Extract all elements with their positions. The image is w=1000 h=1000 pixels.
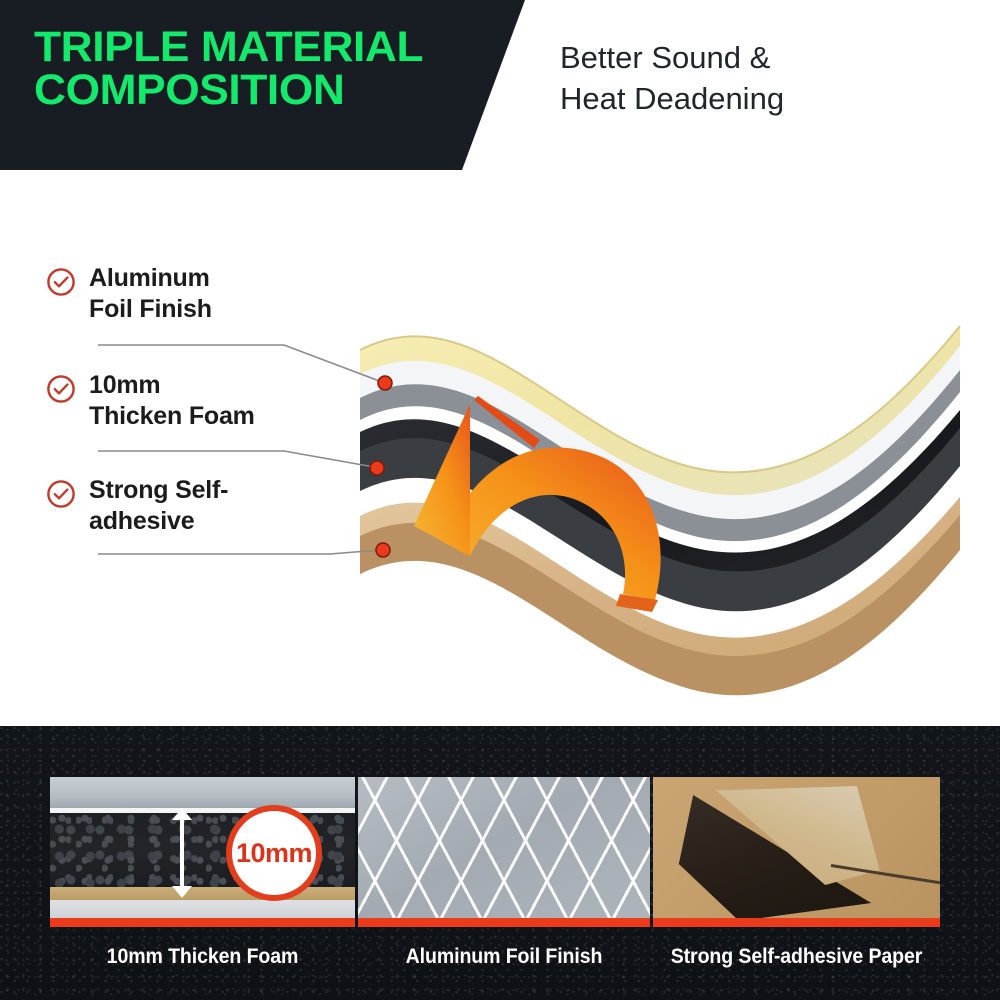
header-subtitle: Better Sound & Heat Deadening xyxy=(560,38,980,120)
photo-gallery-section: 10mm 10mm Thicken Foam Aluminum Foil Fin… xyxy=(0,726,1000,1000)
photo-caption: Strong Self-adhesive Paper xyxy=(663,945,930,969)
page-title: TRIPLE MATERIAL COMPOSITION xyxy=(34,26,518,112)
photo-caption: 10mm Thicken Foam xyxy=(61,945,345,969)
photo-card-foam[interactable]: 10mm 10mm Thicken Foam xyxy=(50,777,355,927)
feature-label: 10mm Thicken Foam xyxy=(89,370,255,431)
foam-cross-section-photo: 10mm xyxy=(50,777,355,927)
accent-bar xyxy=(50,918,355,927)
check-circle-icon xyxy=(46,267,76,297)
thickness-arrow-icon xyxy=(180,819,184,887)
feature-item-thicken-foam[interactable]: 10mm Thicken Foam xyxy=(46,370,255,431)
feature-item-self-adhesive[interactable]: Strong Self- adhesive xyxy=(46,475,228,536)
photo-card-list: 10mm 10mm Thicken Foam Aluminum Foil Fin… xyxy=(0,726,1000,1000)
product-infographic: TRIPLE MATERIAL COMPOSITION Better Sound… xyxy=(0,0,1000,1000)
photo-card-adhesive[interactable]: Strong Self-adhesive Paper xyxy=(653,777,940,927)
thickness-badge: 10mm xyxy=(226,805,322,901)
self-adhesive-peel-photo xyxy=(653,777,940,927)
accent-bar xyxy=(358,918,650,927)
check-circle-icon xyxy=(46,479,76,509)
check-circle-icon xyxy=(46,374,76,404)
layer-diagram-section: Aluminum Foil Finish 10mm Thicken Foam xyxy=(0,170,1000,726)
aluminum-foil-texture-photo xyxy=(358,777,650,927)
header: TRIPLE MATERIAL COMPOSITION Better Sound… xyxy=(0,0,1000,170)
accent-bar xyxy=(653,918,940,927)
feature-label: Aluminum Foil Finish xyxy=(89,263,212,324)
photo-caption: Aluminum Foil Finish xyxy=(368,945,640,969)
feature-list: Aluminum Foil Finish 10mm Thicken Foam xyxy=(0,170,360,726)
feature-item-aluminum-foil[interactable]: Aluminum Foil Finish xyxy=(46,263,212,324)
feature-label: Strong Self- adhesive xyxy=(89,475,228,536)
photo-card-foil[interactable]: Aluminum Foil Finish xyxy=(358,777,650,927)
